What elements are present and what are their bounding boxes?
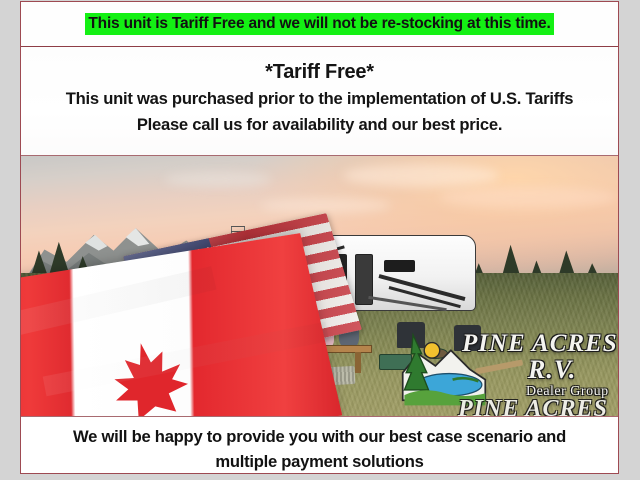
cloud	[260, 198, 391, 214]
tariff-banner-text: This unit is Tariff Free and we will not…	[85, 13, 553, 36]
closing-line-2: multiple payment solutions	[21, 450, 618, 474]
camp-chair	[454, 325, 481, 351]
rv-window	[384, 260, 416, 272]
closing-line-1: We will be happy to provide you with our…	[21, 425, 618, 450]
statement-line-2: This unit was purchased prior to the imp…	[21, 86, 618, 111]
person	[339, 316, 359, 347]
picnic-table-leg	[355, 352, 361, 374]
listing-card: This unit is Tariff Free and we will not…	[20, 1, 619, 474]
cloud	[164, 172, 271, 188]
fire-ring	[424, 348, 448, 358]
rv-photo: PINE ACRES R.V. Dealer Group PINE ACRES …	[21, 156, 618, 417]
picnic-table-group	[260, 317, 379, 374]
cloud	[439, 187, 618, 208]
statement-line-3: Please call us for availability and our …	[21, 112, 618, 137]
cloud	[343, 164, 498, 187]
rv-window	[337, 254, 348, 290]
camp-chair	[397, 322, 424, 348]
person	[291, 317, 310, 346]
page-root: This unit is Tariff Free and we will not…	[0, 0, 640, 480]
statement-title: *Tariff Free*	[21, 58, 618, 86]
tariff-statement-block: *Tariff Free* This unit was purchased pr…	[21, 47, 618, 156]
closing-text-block: We will be happy to provide you with our…	[21, 417, 618, 473]
cooler	[379, 354, 412, 371]
person	[267, 321, 285, 347]
person	[315, 318, 334, 348]
rv-window	[242, 257, 260, 275]
tariff-banner-block: This unit is Tariff Free and we will not…	[21, 2, 618, 47]
